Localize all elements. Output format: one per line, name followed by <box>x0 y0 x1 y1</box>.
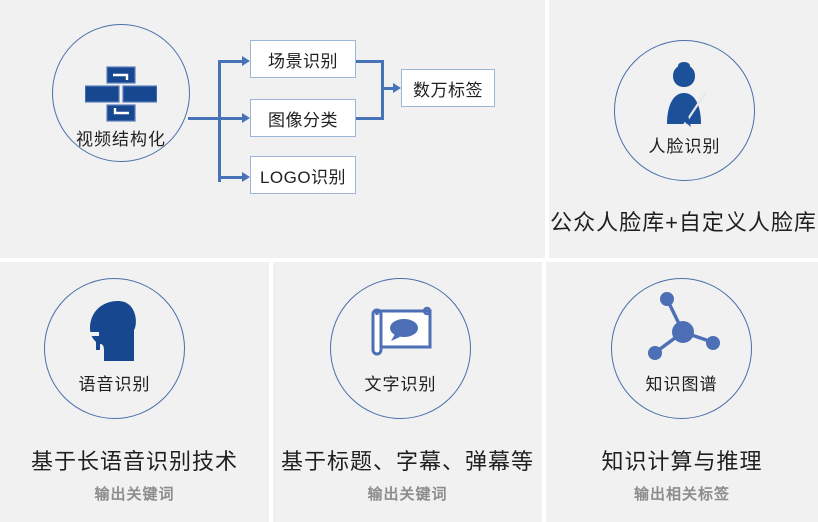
knowledge-graph-label: 知识图谱 <box>611 370 752 395</box>
connector-merge-scene <box>356 60 384 63</box>
speech-recognition-label: 语音识别 <box>44 370 185 395</box>
flow-box-logo-label: LOGO识别 <box>260 163 346 188</box>
flow-box-scene-label: 场景识别 <box>268 47 338 72</box>
speech-recognition-caption: 基于长语音识别技术 <box>0 444 269 476</box>
text-recognition-subcaption: 输出关键词 <box>273 483 542 504</box>
arrow-logo-icon <box>242 172 250 182</box>
knowledge-graph-icon <box>639 288 725 364</box>
speech-recognition-subcaption: 输出关键词 <box>0 483 269 504</box>
flow-box-tags[interactable]: 数万标签 <box>401 69 495 107</box>
video-structuring-icon <box>85 66 157 122</box>
speech-head-icon <box>88 300 146 362</box>
flow-box-tags-label: 数万标签 <box>413 76 483 101</box>
flow-box-image[interactable]: 图像分类 <box>250 99 356 137</box>
face-recognition-icon <box>654 62 715 128</box>
capability-overview-board: 视频结构化 场景识别 图像分类 LOGO识别 数万标签 <box>0 0 818 522</box>
text-recognition-caption: 基于标题、字幕、弹幕等 <box>273 444 542 476</box>
panel-speech-recognition: 语音识别 基于长语音识别技术 输出关键词 <box>0 262 269 522</box>
arrow-image-icon <box>242 113 250 123</box>
face-recognition-label: 人脸识别 <box>614 132 755 157</box>
text-banner-icon <box>369 304 435 360</box>
connector-merge-vertical <box>381 60 384 120</box>
arrow-tags-icon <box>393 83 401 93</box>
flow-box-image-label: 图像分类 <box>268 106 338 131</box>
connector-merge-image <box>356 117 384 120</box>
connector-branch-scene <box>218 60 244 63</box>
flow-box-scene[interactable]: 场景识别 <box>250 40 356 78</box>
connector-trunk-horizontal <box>188 117 220 120</box>
connector-branch-logo <box>218 176 244 179</box>
panel-face-recognition: 人脸识别 公众人脸库+自定义人脸库 <box>549 0 818 258</box>
knowledge-graph-subcaption: 输出相关标签 <box>546 483 818 504</box>
text-recognition-label: 文字识别 <box>330 370 471 395</box>
knowledge-graph-caption: 知识计算与推理 <box>546 444 818 476</box>
video-structuring-label: 视频结构化 <box>52 125 190 150</box>
flow-box-logo[interactable]: LOGO识别 <box>250 156 356 194</box>
connector-branch-image <box>218 117 244 120</box>
face-recognition-caption: 公众人脸库+自定义人脸库 <box>549 205 818 237</box>
arrow-scene-icon <box>242 56 250 66</box>
connector-trunk-vertical <box>218 62 221 182</box>
panel-knowledge-graph: 知识图谱 知识计算与推理 输出相关标签 <box>546 262 818 522</box>
panel-text-recognition: 文字识别 基于标题、字幕、弹幕等 输出关键词 <box>273 262 542 522</box>
panel-video-structuring: 视频结构化 场景识别 图像分类 LOGO识别 数万标签 <box>0 0 545 258</box>
